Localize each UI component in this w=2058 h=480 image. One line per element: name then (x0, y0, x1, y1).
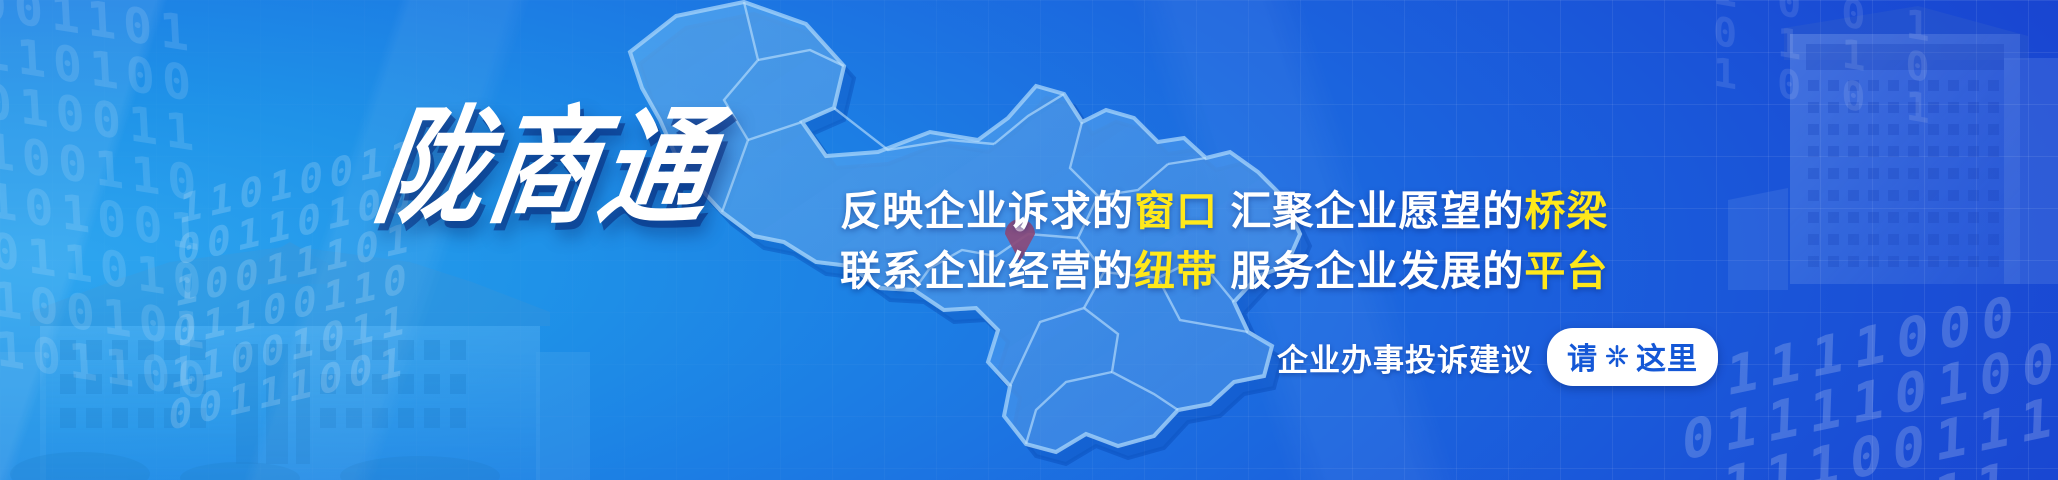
brand-title: 陇商通 (368, 104, 724, 231)
lognshangtong-banner: 1001101 0110100 1010011 0100110 1101001 … (0, 0, 2058, 480)
cta-row: 企业办事投诉建议 请 这里 (1277, 328, 1718, 386)
cta-pill-suffix: 这里 (1636, 334, 1698, 378)
cta-prompt-text: 企业办事投诉建议 (1277, 335, 1533, 380)
cta-pill-prefix: 请 (1567, 334, 1598, 378)
slogan-line-1: 反映企业诉求的窗口 汇聚企业愿望的桥梁 (840, 182, 1700, 242)
slogan-2-segment-1: 联系企业经营的 (840, 248, 1134, 294)
click-here-button[interactable]: 请 这里 (1547, 328, 1718, 386)
slogan-1-segment-2: 汇聚企业愿望的 (1218, 188, 1524, 234)
slogan-2-segment-2: 服务企业发展的 (1218, 248, 1524, 294)
banner-content: 陇商通 反映企业诉求的窗口 汇聚企业愿望的桥梁 联系企业经营的纽带 服务企业发展… (0, 0, 2058, 480)
slogan-2-highlight-2: 平台 (1524, 248, 1608, 294)
slogan-line-2: 联系企业经营的纽带 服务企业发展的平台 (840, 242, 1700, 302)
slogan-2-highlight-1: 纽带 (1134, 248, 1218, 294)
slogan-1-highlight-1: 窗口 (1134, 188, 1218, 234)
slogan-1-segment-1: 反映企业诉求的 (840, 188, 1134, 234)
slogan-1-highlight-2: 桥梁 (1524, 188, 1608, 234)
sparkle-click-icon (1604, 343, 1630, 369)
slogan-block: 反映企业诉求的窗口 汇聚企业愿望的桥梁 联系企业经营的纽带 服务企业发展的平台 (840, 182, 1700, 302)
